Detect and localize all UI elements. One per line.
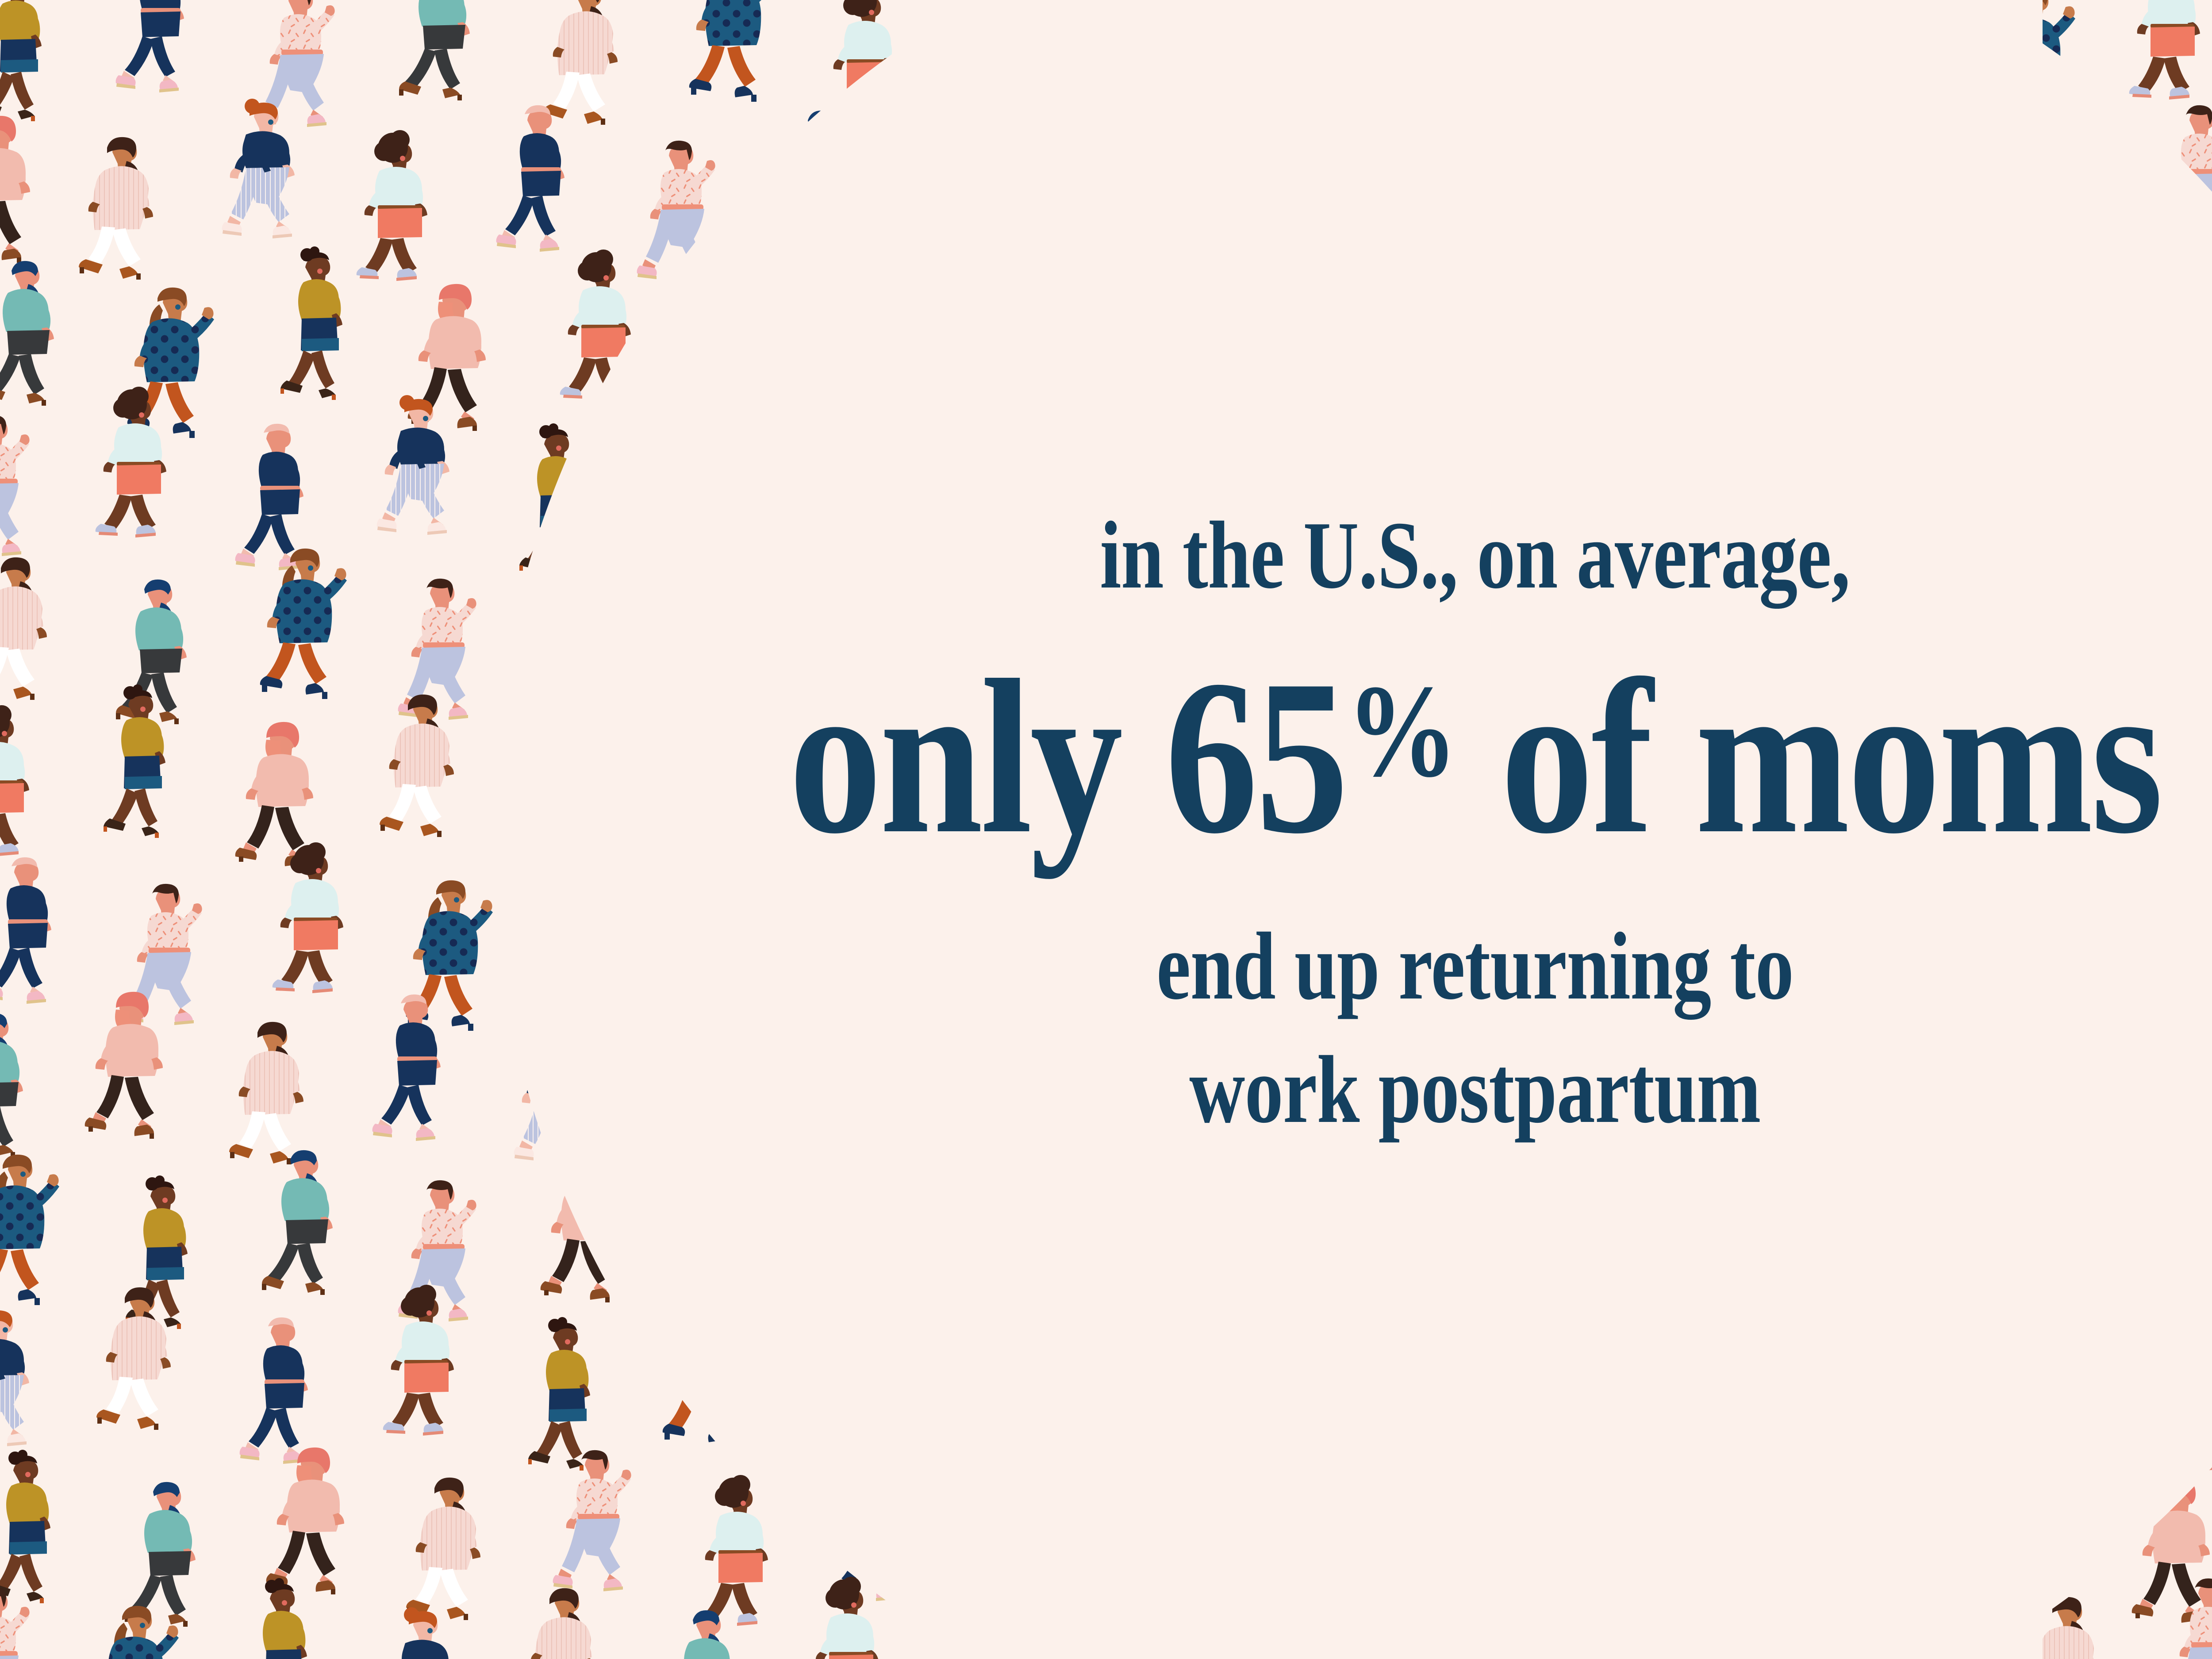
statistic-prefix: only 65 — [789, 634, 1346, 879]
headline-tail-line-2: work postpartum — [820, 1028, 2130, 1152]
graphic-canvas: in the U.S., on average, only 65% of mom… — [0, 0, 2212, 1659]
headline-statistic: only 65% of moms — [787, 646, 2162, 868]
percent-symbol: % — [1346, 657, 1456, 804]
statistic-suffix: of moms — [1456, 634, 2161, 879]
headline-tail-line-1: end up returning to — [820, 905, 2130, 1028]
headline-tail: end up returning to work postpartum — [820, 905, 2130, 1152]
headline-block: in the U.S., on average, only 65% of mom… — [657, 507, 2212, 1152]
headline-kicker: in the U.S., on average, — [820, 507, 2130, 604]
